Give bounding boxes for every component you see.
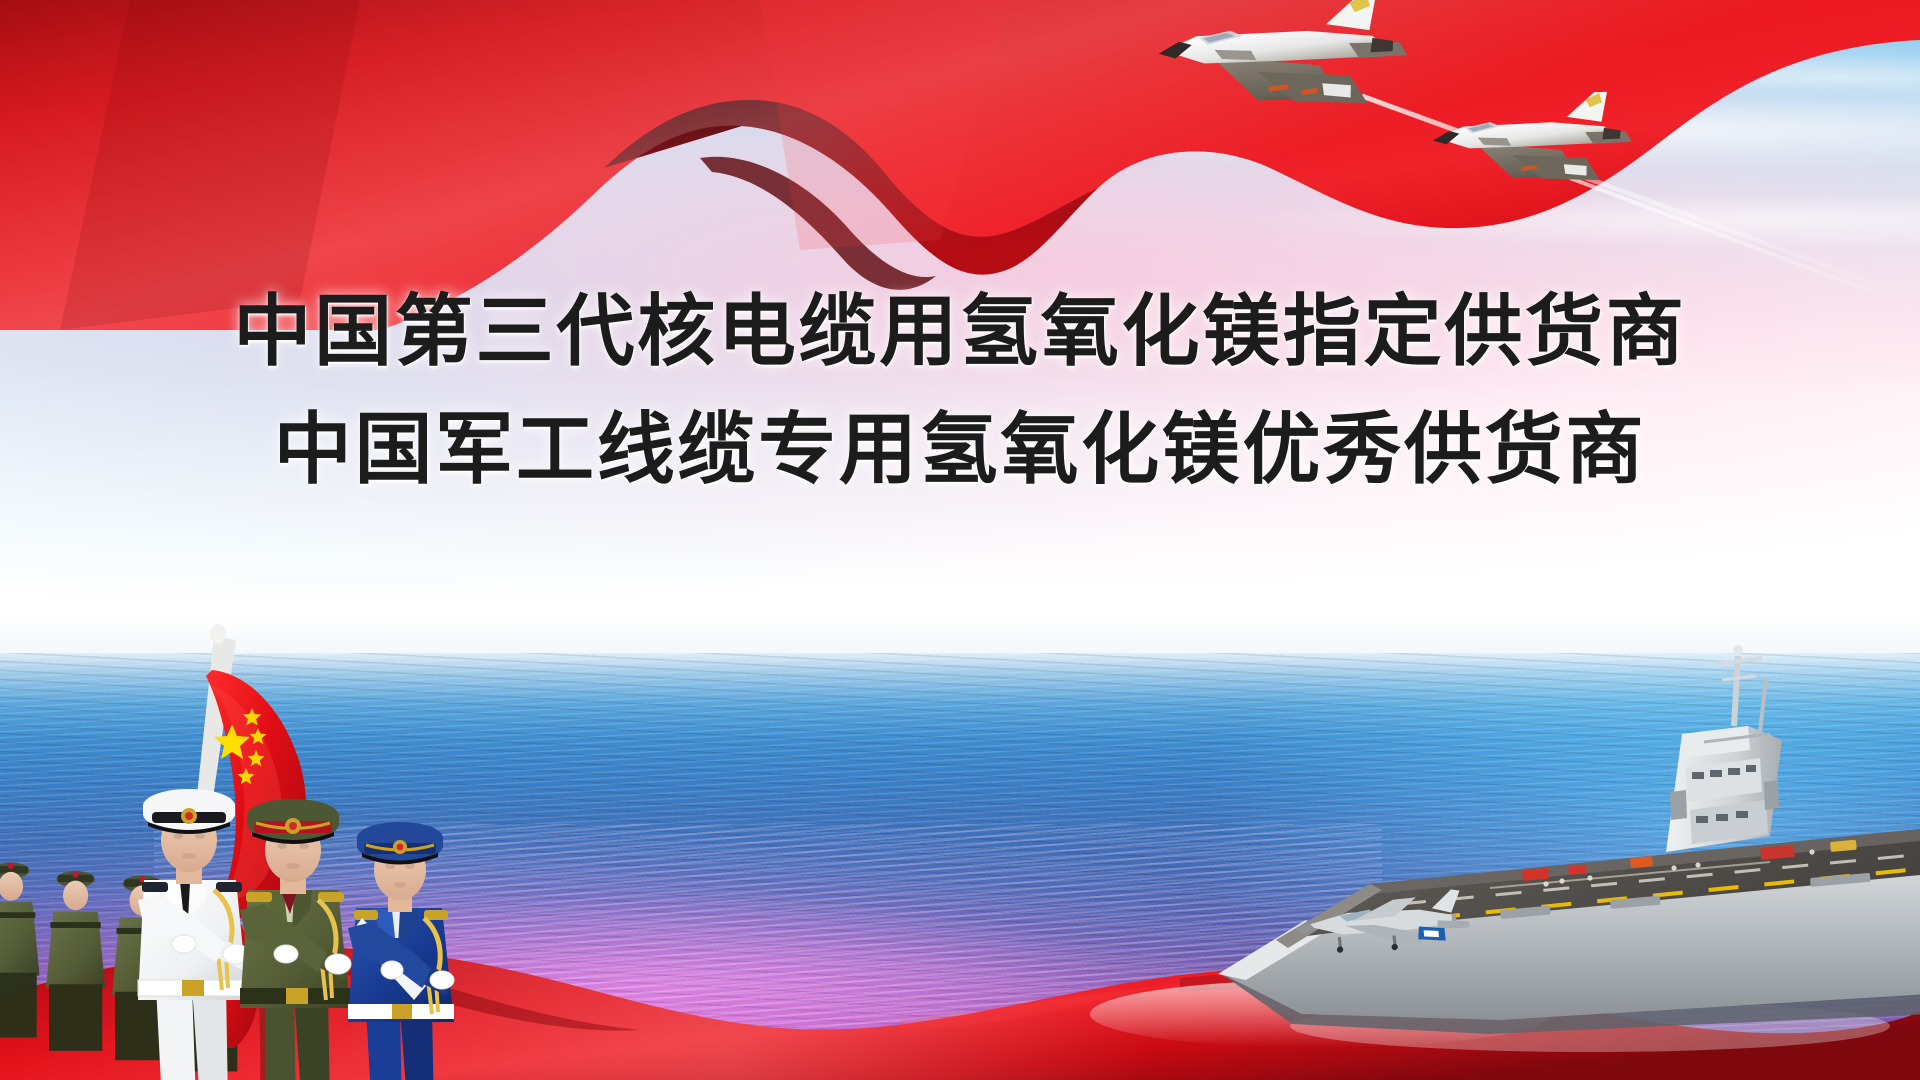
headline-block: 中国第三代核电缆用氢氧化镁指定供货商 中国军工线缆专用氢氧化镁优秀供货商 [0, 292, 1920, 488]
carrier-island [1666, 645, 1782, 852]
pla-honor-guard [0, 596, 560, 1056]
white-glove [274, 945, 298, 963]
white-glove [325, 954, 351, 974]
white-glove [381, 961, 403, 979]
honor-guard-airforce [348, 822, 454, 1080]
headline-line-1: 中国第三代核电缆用氢氧化镁指定供货商 [0, 292, 1920, 370]
aircraft-carrier [1070, 622, 1920, 1052]
fighter-jet-lead [1154, 0, 1413, 131]
column-soldier [0, 863, 40, 1038]
promotional-banner: 中国第三代核电缆用氢氧化镁指定供货商 中国军工线缆专用氢氧化镁优秀供货商 [0, 0, 1920, 1080]
white-glove [430, 971, 454, 989]
headline-line-2: 中国军工线缆专用氢氧化镁优秀供货商 [0, 410, 1920, 488]
white-glove [172, 935, 196, 953]
fighter-jet-formation [1100, 0, 1920, 260]
